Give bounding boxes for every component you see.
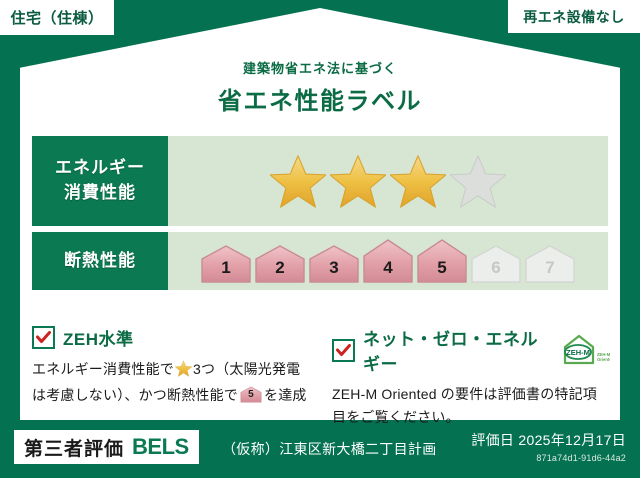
- inline-house-badge: 5: [240, 386, 262, 403]
- note-0: ZEH水準 エネルギー消費性能で 3つ（太陽光発電は考慮しない）、かつ断熱性能で…: [32, 325, 310, 429]
- zeh-m-logo: ZEH-M ZEH-M Oriented: [562, 334, 610, 366]
- row-insulation-performance: 断熱性能 1 2 3: [32, 232, 608, 290]
- title-subtitle: 建築物省エネ法に基づく: [0, 58, 640, 77]
- tag-building-type-label: 住宅（住棟）: [10, 7, 103, 28]
- note-0-body: エネルギー消費性能で 3つ（太陽光発電は考慮しない）、かつ断熱性能で 5を達成: [32, 358, 310, 407]
- note-1-title: ネット・ゼロ・エネルギー: [363, 325, 550, 375]
- row-energy-label-line2: 消費性能: [64, 181, 136, 206]
- insulation-level-6-value: 6: [470, 258, 522, 278]
- row-energy-label-line1: エネルギー: [55, 156, 145, 181]
- zeh-m-house-icon: ZEH-M ZEH-M Oriented: [562, 334, 610, 366]
- evaluation-date: 評価日 2025年12月17日: [471, 430, 626, 450]
- insulation-level-1-value: 1: [200, 258, 252, 278]
- insulation-level-6[interactable]: 6: [470, 244, 522, 284]
- check-icon: [336, 344, 351, 357]
- note-1-head: ネット・ゼロ・エネルギー ZEH-M ZEH-M Oriented: [332, 325, 610, 375]
- insulation-level-5-value: 5: [416, 258, 468, 278]
- note-0-title: ZEH水準: [63, 325, 134, 350]
- insulation-level-scale: 1 2 3 4 5: [200, 238, 576, 284]
- star-filled-icon: [270, 154, 326, 208]
- row-insulation-label-line1: 断熱性能: [64, 249, 136, 274]
- insulation-level-5[interactable]: 5: [416, 238, 468, 284]
- check-icon: [36, 331, 51, 344]
- svg-text:Oriented: Oriented: [597, 357, 610, 362]
- insulation-level-3[interactable]: 3: [308, 244, 360, 284]
- star-filled-icon: [175, 360, 192, 377]
- note-0-checkbox[interactable]: [32, 326, 55, 349]
- building-name: （仮称）江東区新大橋二丁目計画: [222, 439, 437, 459]
- evaluation-meta: 評価日 2025年12月17日 871a74d1-91d6-44a2: [471, 430, 626, 463]
- insulation-level-2-value: 2: [254, 258, 306, 278]
- inline-star-icon: [175, 364, 192, 380]
- tag-building-type: 住宅（住棟）: [0, 0, 114, 35]
- note-1: ネット・ゼロ・エネルギー ZEH-M ZEH-M Oriented ZEH-M …: [332, 325, 610, 429]
- note-0-head: ZEH水準: [32, 325, 310, 350]
- bels-en-label: BELS: [132, 434, 189, 460]
- svg-text:ZEH-M: ZEH-M: [566, 348, 590, 357]
- tag-renewable-status: 再エネ設備なし: [508, 0, 640, 33]
- insulation-level-4[interactable]: 4: [362, 238, 414, 284]
- star-filled-icon: [390, 154, 446, 208]
- inline-house-badge-value: 5: [240, 387, 262, 404]
- tag-renewable-status-label: 再エネ設備なし: [523, 7, 625, 27]
- row-energy-label: エネルギー 消費性能: [32, 136, 168, 226]
- bels-energy-label: 住宅（住棟） 再エネ設備なし 建築物省エネ法に基づく 省エネ性能ラベル エネルギ…: [0, 0, 640, 478]
- star-rating: [270, 154, 506, 208]
- row-insulation-body: 1 2 3 4 5: [168, 232, 608, 290]
- title-main: 省エネ性能ラベル: [0, 81, 640, 116]
- row-insulation-label: 断熱性能: [32, 232, 168, 290]
- star-filled-icon: [330, 154, 386, 208]
- insulation-level-1[interactable]: 1: [200, 244, 252, 284]
- bels-jp-label: 第三者評価: [24, 434, 124, 461]
- bels-badge: 第三者評価 BELS: [14, 430, 199, 464]
- insulation-level-7-value: 7: [524, 258, 576, 278]
- evaluation-id: 871a74d1-91d6-44a2: [471, 453, 626, 463]
- insulation-level-7[interactable]: 7: [524, 244, 576, 284]
- note-1-checkbox[interactable]: [332, 339, 355, 362]
- insulation-level-4-value: 4: [362, 258, 414, 278]
- notes-section: ZEH水準 エネルギー消費性能で 3つ（太陽光発電は考慮しない）、かつ断熱性能で…: [32, 325, 610, 429]
- page-title: 建築物省エネ法に基づく 省エネ性能ラベル: [0, 58, 640, 116]
- star-empty-icon: [450, 154, 506, 208]
- row-energy-body: [168, 136, 608, 226]
- ratings-panel: エネルギー 消費性能 断熱性能: [32, 136, 608, 296]
- insulation-level-2[interactable]: 2: [254, 244, 306, 284]
- row-energy-performance: エネルギー 消費性能: [32, 136, 608, 226]
- insulation-level-3-value: 3: [308, 258, 360, 278]
- footer-bar: 第三者評価 BELS （仮称）江東区新大橋二丁目計画 評価日 2025年12月1…: [0, 420, 640, 478]
